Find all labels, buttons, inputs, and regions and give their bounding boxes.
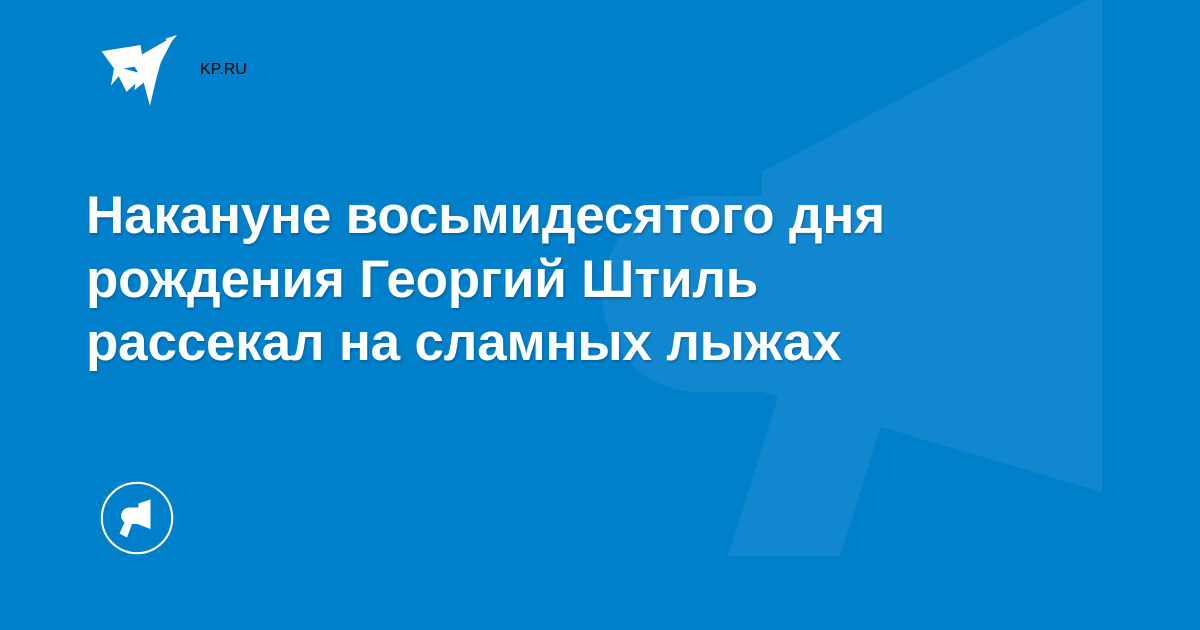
title-line-1: Накануне восьмидесятого дня (86, 184, 1016, 248)
share-card: KP.RU Накануне восьмидесятого дня рожден… (0, 0, 1200, 630)
title-line-3: рассекал на сламных лыжах (86, 311, 1016, 375)
swallow-bird-icon (100, 34, 178, 106)
site-header: KP.RU (100, 34, 247, 106)
megaphone-icon (100, 481, 174, 555)
title-line-2: рождения Георгий Штиль (86, 248, 1016, 312)
page-title: Накануне восьмидесятого дня рождения Гео… (86, 184, 1016, 375)
brand-wordmark: KP.RU (200, 61, 247, 79)
megaphone-badge[interactable] (100, 481, 174, 555)
